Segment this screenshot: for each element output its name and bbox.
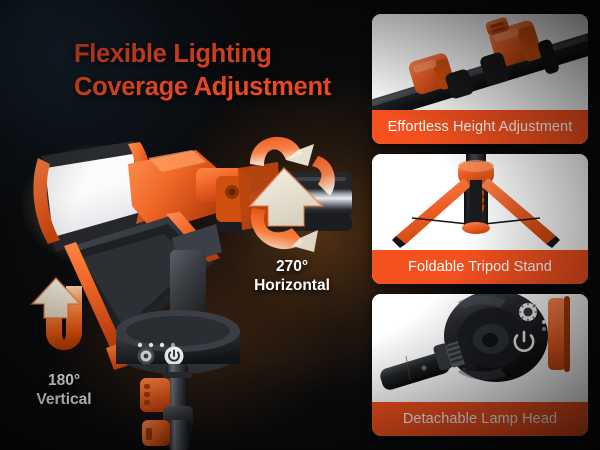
panel-art-foldable-tripod — [372, 154, 588, 250]
tripod-leg-right — [481, 178, 560, 248]
panel-caption-height-adjustment: Effortless Height Adjustment — [372, 110, 588, 144]
annotation-vertical-rotation: 180° Vertical — [8, 372, 120, 410]
lamp-orange-collar — [548, 296, 588, 372]
page-title: Flexible Lighting Coverage Adjustment — [74, 38, 374, 103]
product-feature-graphic: Flexible Lighting Coverage Adjustment 27… — [0, 0, 600, 450]
brightness-sun-icon — [518, 302, 538, 322]
panel-art-telescoping-pole — [372, 14, 588, 110]
feature-panel-height-adjustment[interactable]: Effortless Height Adjustment — [372, 14, 588, 144]
panel-caption-tripod-stand: Foldable Tripod Stand — [372, 250, 588, 284]
feature-panel-tripod-stand[interactable]: Foldable Tripod Stand — [372, 154, 588, 284]
pole-clamp-lower — [142, 420, 170, 446]
annotation-horizontal-rotation: 270° Horizontal — [228, 258, 356, 296]
tripod-leg-left — [392, 178, 471, 248]
feature-panel-lamp-head[interactable]: Detachable Lamp Head — [372, 294, 588, 436]
brightness-knob — [138, 348, 155, 365]
tripod-leg-center — [468, 180, 482, 228]
panel-art-detachable-lamp-head — [372, 294, 588, 402]
rotation-arrow-vertical-icon — [16, 274, 116, 374]
threaded-mount-pole — [378, 335, 477, 391]
telescoping-pole — [140, 364, 193, 450]
panel-caption-lamp-head: Detachable Lamp Head — [372, 402, 588, 436]
rotation-arrow-horizontal-icon — [222, 130, 362, 258]
power-button — [165, 347, 184, 366]
